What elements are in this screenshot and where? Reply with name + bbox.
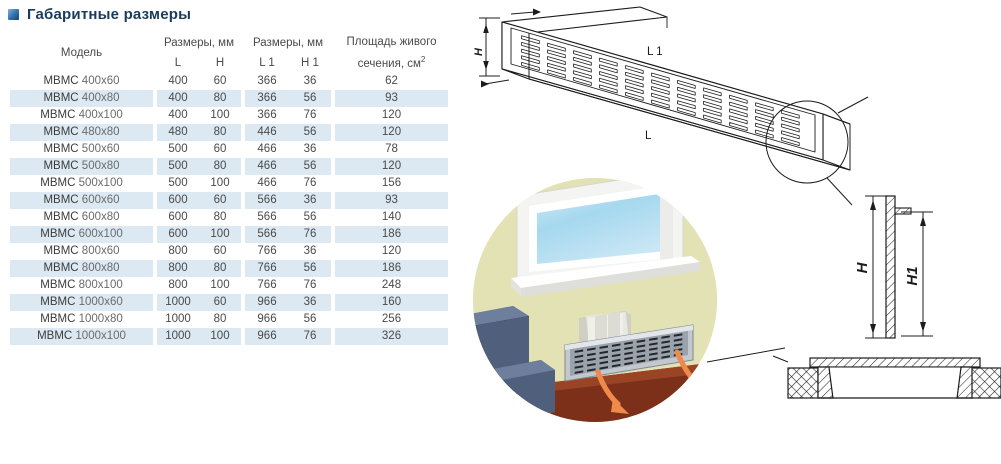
cell-h: 80 (199, 209, 241, 226)
cell-l1: 566 (245, 192, 289, 209)
cell-model: МВМС 480x80 (10, 124, 153, 141)
model-prefix: МВМС (43, 262, 81, 274)
cell-l: 600 (157, 209, 199, 226)
cell-h: 80 (199, 260, 241, 277)
model-size: 500x80 (82, 160, 120, 172)
header-free-area-line2: сечения, см (358, 58, 421, 70)
model-prefix: МВМС (43, 143, 81, 155)
cell-h: 60 (199, 192, 241, 209)
cell-l1: 466 (245, 141, 289, 158)
model-prefix: МВМС (40, 313, 78, 325)
cell-area: 120 (335, 158, 448, 175)
cell-l: 800 (157, 260, 199, 277)
cell-h: 100 (199, 226, 241, 243)
model-size: 1000x80 (79, 313, 123, 325)
cell-area: 186 (335, 226, 448, 243)
cell-model: МВМС 400x60 (10, 73, 153, 90)
leader-line-illustration (707, 348, 785, 362)
model-size: 800x60 (82, 245, 120, 257)
cell-h1: 36 (289, 294, 331, 311)
cell-model: МВМС 400x100 (10, 107, 153, 124)
cell-h: 100 (199, 277, 241, 294)
cell-l1: 966 (245, 294, 289, 311)
cell-h1: 76 (289, 277, 331, 294)
model-size: 500x100 (79, 177, 123, 189)
cell-area: 156 (335, 175, 448, 192)
table-row: МВМС 500x10050010046676156 (10, 175, 448, 192)
cell-l1: 366 (245, 90, 289, 107)
cell-l: 500 (157, 141, 199, 158)
model-prefix: МВМС (43, 245, 81, 257)
dimension-depth-isometric (511, 9, 541, 16)
page-title-text: Габаритные размеры (27, 6, 191, 23)
cell-l1: 766 (245, 277, 289, 294)
cell-l1: 366 (245, 107, 289, 124)
model-prefix: МВМС (40, 109, 78, 121)
header-free-area: Площадь живого сечения, см2 (335, 34, 448, 73)
leader-tick-mounting (773, 356, 788, 362)
table-row: МВМС 480x804808044656120 (10, 124, 448, 141)
cell-area: 120 (335, 124, 448, 141)
table-header-row-1: Модель Размеры, мм Размеры, мм Площадь ж… (10, 34, 448, 53)
cell-model: МВМС 600x60 (10, 192, 153, 209)
cell-l1: 766 (245, 243, 289, 260)
model-prefix: МВМС (43, 92, 81, 104)
header-model: Модель (10, 34, 153, 73)
cell-h: 100 (199, 328, 241, 345)
cell-model: МВМС 500x60 (10, 141, 153, 158)
cell-l: 400 (157, 73, 199, 90)
model-size: 400x60 (82, 75, 120, 87)
cell-h: 100 (199, 107, 241, 124)
cell-h: 60 (199, 294, 241, 311)
model-size: 1000x60 (79, 296, 123, 308)
cell-h1: 76 (289, 328, 331, 345)
cell-model: МВМС 800x80 (10, 260, 153, 277)
cross-section-h-drawing (865, 196, 933, 338)
bullet-icon (8, 9, 19, 20)
leader-line-down (827, 178, 852, 205)
cell-l1: 466 (245, 158, 289, 175)
cell-l: 400 (157, 107, 199, 124)
cell-model: МВМС 800x60 (10, 243, 153, 260)
table-head: Модель Размеры, мм Размеры, мм Площадь ж… (10, 34, 448, 73)
cell-h: 80 (199, 311, 241, 328)
mounting-section-drawing (788, 358, 1001, 398)
cell-area: 78 (335, 141, 448, 158)
header-sub-h1: H 1 (289, 53, 331, 72)
dimension-h-isometric (479, 18, 500, 76)
dimensions-table-container: Модель Размеры, мм Размеры, мм Площадь ж… (10, 34, 448, 345)
cell-h1: 76 (289, 175, 331, 192)
label-h-section: H (854, 261, 871, 273)
cell-model: МВМС 500x80 (10, 158, 153, 175)
cell-model: МВМС 500x100 (10, 175, 153, 192)
dimensions-table: Модель Размеры, мм Размеры, мм Площадь ж… (10, 34, 448, 345)
table-row: МВМС 500x805008046656120 (10, 158, 448, 175)
cell-model: МВМС 1000x60 (10, 294, 153, 311)
label-l-isometric: L (645, 130, 652, 142)
cell-model: МВМС 1000x100 (10, 328, 153, 345)
isometric-grille-drawing (502, 7, 850, 170)
cell-area: 326 (335, 328, 448, 345)
header-sub-l: L (157, 53, 199, 72)
model-prefix: МВМС (43, 211, 81, 223)
cell-area: 160 (335, 294, 448, 311)
model-prefix: МВМС (43, 75, 81, 87)
cell-area: 140 (335, 209, 448, 226)
cell-h: 80 (199, 158, 241, 175)
cell-l1: 566 (245, 226, 289, 243)
cell-l: 480 (157, 124, 199, 141)
cell-h1: 76 (289, 226, 331, 243)
table-row: МВМС 800x608006076636120 (10, 243, 448, 260)
cell-l1: 446 (245, 124, 289, 141)
cell-l: 1000 (157, 311, 199, 328)
cell-l: 1000 (157, 294, 199, 311)
cell-h1: 56 (289, 124, 331, 141)
table-row: МВМС 600x10060010056676186 (10, 226, 448, 243)
cell-l1: 366 (245, 73, 289, 90)
cell-area: 120 (335, 243, 448, 260)
cell-model: МВМС 1000x80 (10, 311, 153, 328)
model-size: 600x60 (82, 194, 120, 206)
leader-line-to-section (838, 97, 868, 113)
cell-area: 93 (335, 192, 448, 209)
cell-h1: 36 (289, 192, 331, 209)
model-size: 480x80 (82, 126, 120, 138)
model-size: 400x100 (79, 109, 123, 121)
header-free-area-sup: 2 (421, 55, 425, 64)
cell-h1: 56 (289, 311, 331, 328)
cell-l: 500 (157, 158, 199, 175)
cell-h: 60 (199, 141, 241, 158)
cell-model: МВМС 800x100 (10, 277, 153, 294)
cell-area: 248 (335, 277, 448, 294)
cell-l1: 466 (245, 175, 289, 192)
model-size: 500x60 (82, 143, 120, 155)
cell-model: МВМС 600x100 (10, 226, 153, 243)
model-prefix: МВМС (37, 330, 75, 342)
label-l1-isometric: L 1 (647, 46, 663, 58)
cell-h: 80 (199, 124, 241, 141)
cell-h1: 76 (289, 107, 331, 124)
cell-l: 600 (157, 226, 199, 243)
cell-model: МВМС 400x80 (10, 90, 153, 107)
table-row: МВМС 1000x6010006096636160 (10, 294, 448, 311)
cell-l: 500 (157, 175, 199, 192)
cell-h: 80 (199, 90, 241, 107)
model-size: 800x80 (82, 262, 120, 274)
table-row: МВМС 1000x8010008096656256 (10, 311, 448, 328)
model-prefix: МВМС (43, 126, 81, 138)
header-sub-h: H (199, 53, 241, 72)
cell-l1: 766 (245, 260, 289, 277)
header-free-area-line1: Площадь живого (346, 36, 436, 48)
cell-l: 400 (157, 90, 199, 107)
table-body: МВМС 400x60400603663662МВМС 400x80400803… (10, 73, 448, 345)
table-row: МВМС 500x60500604663678 (10, 141, 448, 158)
graphics-panel: H L 1 L (455, 0, 1001, 464)
cell-area: 256 (335, 311, 448, 328)
cell-h: 60 (199, 243, 241, 260)
header-sub-l1: L 1 (245, 53, 289, 72)
page-title: Габаритные размеры (8, 6, 191, 23)
cell-h: 100 (199, 175, 241, 192)
table-row: МВМС 600x806008056656140 (10, 209, 448, 226)
table-row: МВМС 400x10040010036676120 (10, 107, 448, 124)
model-prefix: МВМС (40, 279, 78, 291)
cell-area: 186 (335, 260, 448, 277)
cell-area: 93 (335, 90, 448, 107)
cell-l1: 966 (245, 311, 289, 328)
table-row: МВМС 400x60400603663662 (10, 73, 448, 90)
model-prefix: МВМС (43, 194, 81, 206)
table-row: МВМС 1000x100100010096676326 (10, 328, 448, 345)
cell-area: 62 (335, 73, 448, 90)
cell-model: МВМС 600x80 (10, 209, 153, 226)
cell-h1: 56 (289, 209, 331, 226)
model-size: 1000x100 (75, 330, 126, 342)
model-prefix: МВМС (40, 177, 78, 189)
model-prefix: МВМС (40, 228, 78, 240)
cell-l: 1000 (157, 328, 199, 345)
model-size: 600x100 (79, 228, 123, 240)
cell-l: 800 (157, 243, 199, 260)
table-row: МВМС 400x80400803665693 (10, 90, 448, 107)
label-h1-section: H1 (904, 266, 921, 285)
model-size: 600x80 (82, 211, 120, 223)
label-h-isometric: H (473, 47, 485, 56)
cell-l: 800 (157, 277, 199, 294)
cell-h1: 56 (289, 158, 331, 175)
header-group-2: Размеры, мм (245, 34, 331, 53)
table-row: МВМС 600x60600605663693 (10, 192, 448, 209)
cell-h1: 36 (289, 141, 331, 158)
model-prefix: МВМС (40, 296, 78, 308)
dimension-bottom-arrow-isometric (481, 80, 509, 88)
model-size: 800x100 (79, 279, 123, 291)
cell-area: 120 (335, 107, 448, 124)
room-illustration (455, 170, 717, 424)
cell-h1: 56 (289, 90, 331, 107)
table-row: МВМС 800x808008076656186 (10, 260, 448, 277)
cell-l: 600 (157, 192, 199, 209)
cell-h1: 36 (289, 73, 331, 90)
cell-h1: 56 (289, 260, 331, 277)
model-prefix: МВМС (43, 160, 81, 172)
model-size: 400x80 (82, 92, 120, 104)
cell-l1: 966 (245, 328, 289, 345)
cell-h: 60 (199, 73, 241, 90)
header-group-1: Размеры, мм (157, 34, 241, 53)
product-spec-page: Габаритные размеры Модель Размеры, мм (0, 0, 1001, 464)
cell-h1: 36 (289, 243, 331, 260)
table-row: МВМС 800x10080010076676248 (10, 277, 448, 294)
cell-l1: 566 (245, 209, 289, 226)
